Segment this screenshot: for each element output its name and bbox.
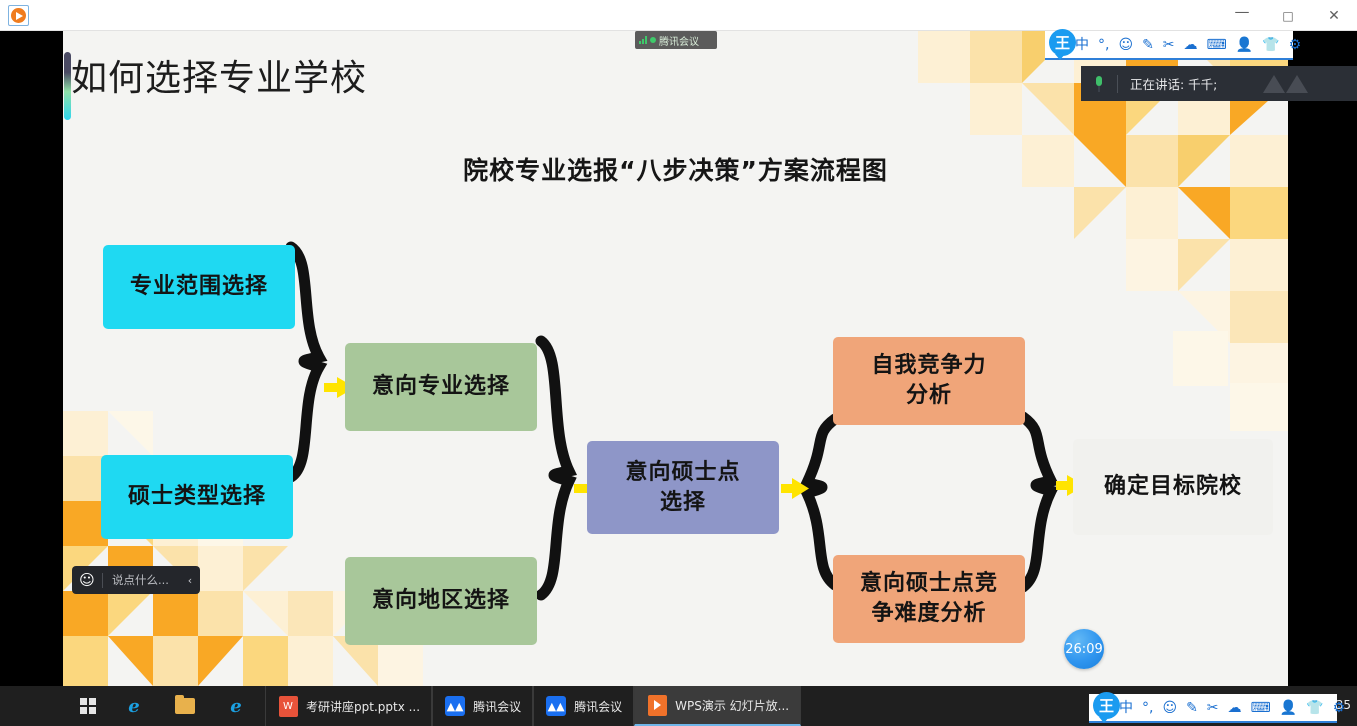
recording-dot-icon [650,37,656,43]
flow-node-label-line1: 意向硕士点 [625,458,740,488]
chinese-mode-icon[interactable]: 中 [1075,38,1089,52]
taskbar-item-edge-browser[interactable]: e [214,686,265,726]
taskbar-items: e e W 考研讲座ppt.pptx ... ▲▲ 腾讯会议 ▲▲ [64,686,801,726]
maximize-button[interactable]: □ [1265,0,1311,31]
gear-icon[interactable]: ⚙ [1289,38,1302,52]
scissors-icon[interactable]: ✂ [1207,701,1219,715]
start-button[interactable] [64,686,112,726]
tencent-meeting-icon: ▲▲ [444,695,466,717]
smiley-icon[interactable]: ☺ [72,571,102,589]
chevron-left-icon[interactable]: ‹ [180,574,200,587]
divider [1117,75,1118,93]
tencent-meeting-tag-label: 腾讯会议 [659,33,699,48]
sogou-logo-icon[interactable]: 王 [1049,29,1076,56]
flow-node-target-school[interactable]: 确定目标院校 [1073,439,1273,535]
windows-logo-icon [80,698,96,714]
chat-input-bar[interactable]: ☺ 说点什么... ‹ [72,566,200,594]
flow-node-label: 意向地区选择 [372,586,510,616]
user-icon[interactable]: 👤 [1280,701,1297,715]
taskbar-item-tencent-meeting-2[interactable]: ▲▲ 腾讯会议 [533,686,634,726]
flow-node-point-difficulty[interactable]: 意向硕士点竞 争难度分析 [833,555,1025,643]
meeting-timer[interactable]: 26:09 [1064,629,1104,669]
flow-node-label: 专业范围选择 [130,272,268,302]
taskbar-item-wps-slideshow[interactable]: WPS演示 幻灯片放... [634,686,801,726]
screen: — □ ✕ [0,0,1357,726]
flow-connectors [63,31,1288,686]
flow-node-intended-point[interactable]: 意向硕士点 选择 [587,441,779,534]
flow-node-label-line1: 意向硕士点竞 [860,569,998,599]
taskbar-item-label: WPS演示 幻灯片放... [675,697,789,714]
flow-node-major-scope[interactable]: 专业范围选择 [103,245,295,329]
sogou-logo-icon[interactable]: 王 [1093,692,1120,719]
window-titlebar: — □ ✕ [0,0,1357,31]
flow-node-intended-major[interactable]: 意向专业选择 [345,343,537,431]
chinese-mode-icon[interactable]: 中 [1119,701,1133,715]
tencent-meeting-icon: ▲▲ [545,695,567,717]
scissors-icon[interactable]: ✂ [1163,38,1175,52]
close-button[interactable]: ✕ [1311,0,1357,31]
emoji-icon[interactable]: ☺ [1162,701,1177,715]
user-icon[interactable]: 👤 [1236,38,1253,52]
speaking-label: 正在讲话: 千千; [1130,74,1217,93]
pen-icon[interactable]: ✎ [1142,38,1154,52]
taskbar-item-label: 考研讲座ppt.pptx ... [306,698,420,715]
tencent-meeting-watermark-icon [1263,75,1309,93]
speaking-notification[interactable]: 正在讲话: 千千; [1081,66,1357,101]
emoji-icon[interactable]: ☺ [1118,38,1133,52]
taskbar-item-ie-browser[interactable]: e [112,686,163,726]
flow-node-intended-area[interactable]: 意向地区选择 [345,557,537,645]
keyboard-icon[interactable]: ⌨ [1207,38,1227,52]
microphone-icon [1081,76,1117,92]
flow-node-label: 确定目标院校 [1104,472,1242,502]
flow-node-master-type[interactable]: 硕士类型选择 [101,455,293,539]
chat-input-placeholder[interactable]: 说点什么... [103,572,180,588]
flow-node-self-compete[interactable]: 自我竞争力 分析 [833,337,1025,425]
sogou-ime-toolbar[interactable]: 王 中 °, ☺ ✎ ✂ ☁ ⌨ 👤 👕 ⚙ [1045,31,1293,60]
skin-icon[interactable]: 👕 [1306,701,1323,715]
cloud-icon[interactable]: ☁ [1228,701,1242,715]
taskbar-item-tencent-meeting-1[interactable]: ▲▲ 腾讯会议 [432,686,533,726]
flow-node-label: 硕士类型选择 [128,482,266,512]
pen-icon[interactable]: ✎ [1186,701,1198,715]
folder-icon [174,695,196,717]
taskbar-item-label: 腾讯会议 [473,698,521,715]
wps-doc-icon: W [277,695,299,717]
flow-node-label-line1: 自我竞争力 [871,351,986,381]
ie-icon: e [123,695,145,717]
signal-bars-icon [639,36,647,44]
gear-icon[interactable]: ⚙ [1333,701,1346,715]
presentation-slide: 如何选择专业学校 院校专业选报“八步决策”方案流程图 [63,31,1288,686]
ie-icon: e [225,695,247,717]
keyboard-icon[interactable]: ⌨ [1251,701,1271,715]
flow-node-label-line2: 争难度分析 [871,599,986,629]
meeting-timer-value: 26:09 [1065,642,1102,657]
taskbar-item-wps-doc[interactable]: W 考研讲座ppt.pptx ... [265,686,432,726]
taskbar-item-label: 腾讯会议 [574,698,622,715]
cloud-icon[interactable]: ☁ [1184,38,1198,52]
flow-node-label: 意向专业选择 [372,372,510,402]
wps-play-icon [646,694,668,716]
minimize-button[interactable]: — [1219,0,1265,31]
tencent-meeting-float-tag[interactable]: 腾讯会议 [635,31,717,49]
punctuation-icon[interactable]: °, [1098,38,1109,52]
window-controls: — □ ✕ [1219,0,1357,31]
punctuation-icon[interactable]: °, [1142,701,1153,715]
title-accent-bar [64,52,71,120]
sogou-ime-toolbar-tray[interactable]: 王 中 °, ☺ ✎ ✂ ☁ ⌨ 👤 👕 ⚙ [1089,694,1337,723]
skin-icon[interactable]: 👕 [1262,38,1279,52]
wps-play-icon [8,5,29,26]
flow-node-label-line2: 选择 [660,488,706,518]
taskbar-item-file-explorer[interactable] [163,686,214,726]
flow-node-label-line2: 分析 [906,381,952,411]
